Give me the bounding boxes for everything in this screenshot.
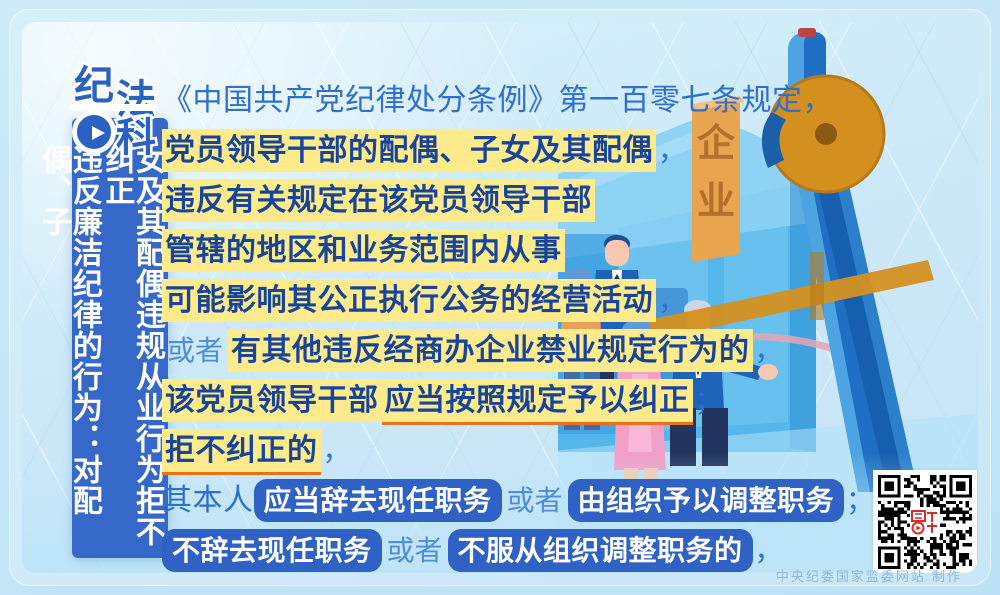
text-segment-pill: 不服从组织调整职务的: [448, 529, 753, 572]
poster-canvas: 企 业: [0, 0, 1000, 595]
text-segment-punct: ，: [753, 336, 783, 367]
text-line: 其本人应当辞去现任职务或者由组织予以调整职务；: [162, 478, 782, 524]
footer-credit: 中央纪委国家监委网站 制作: [776, 566, 962, 585]
text-segment-plain: 其本人: [162, 484, 254, 517]
text-segment-connector: 或者: [502, 486, 568, 517]
text-segment-highlight-underline: 应当按照规定予以纠正: [382, 379, 693, 425]
text-segment-highlight: 党员领导干部的配偶、子女及其配偶: [162, 129, 656, 172]
text-segment-punct: ；: [693, 386, 723, 417]
logo-char-fa: 法: [116, 80, 156, 120]
qr-center-logo: [910, 507, 940, 537]
text-line: 党员领导干部的配偶、子女及其配偶，: [162, 128, 782, 174]
text-line: 违反有关规定在该党员领导干部: [162, 178, 782, 224]
logo-divider-bar: [70, 104, 158, 111]
text-segment-punct: ，: [321, 436, 351, 467]
qr-code[interactable]: [873, 470, 977, 573]
regulation-text-block: 《中国共产党纪律处分条例》第一百零七条规定，党员领导干部的配偶、子女及其配偶，违…: [162, 78, 782, 573]
text-segment-punct: ；: [844, 486, 874, 517]
play-circle-icon: [72, 110, 116, 154]
text-line: 或者有其他违反经商办企业禁业规定行为的，: [162, 328, 782, 374]
text-segment-highlight: 可能影响其公正执行公务的经营活动: [162, 279, 656, 322]
poster-inner-frame: 企 业: [22, 22, 978, 573]
text-segment-connector: 或者: [382, 536, 448, 567]
text-line: 该党员领导干部应当按照规定予以纠正；: [162, 378, 782, 424]
text-segment-punct: ，: [656, 286, 686, 317]
text-segment-pill: 不辞去现任职务: [162, 529, 382, 572]
text-segment-connector: 或者: [162, 336, 228, 367]
text-line: 拒不纠正的，: [162, 428, 782, 474]
text-segment-punct: ，: [656, 136, 686, 167]
vertical-title-banner: 女及其配偶违规从业行为拒不纠正 违反廉洁纪律的行为：对配偶、子: [72, 118, 168, 558]
text-segment-highlight-underline: 拒不纠正的: [162, 429, 321, 475]
text-segment-highlight: 管辖的地区和业务范围内从事: [162, 229, 565, 272]
text-segment-highlight: 该党员领导干部: [162, 379, 382, 422]
text-line: 可能影响其公正执行公务的经营活动，: [162, 278, 782, 324]
text-segment-highlight: 有其他违反经商办企业禁业规定行为的: [228, 329, 753, 372]
text-segment-highlight: 违反有关规定在该党员领导干部: [162, 179, 595, 222]
vertical-title-col-right: 女及其配偶违规从业行为拒不纠正: [101, 144, 162, 548]
text-line: 管辖的地区和业务范围内从事: [162, 228, 782, 274]
text-line: 《中国共产党纪律处分条例》第一百零七条规定，: [162, 78, 782, 124]
text-segment-pill: 应当辞去现任职务: [254, 479, 502, 522]
text-segment-plain: 《中国共产党纪律处分条例》第一百零七条规定，: [162, 84, 833, 117]
brand-logo: 纪 法 科: [72, 66, 168, 162]
text-segment-punct: ，: [753, 536, 783, 567]
logo-char-ke: 科: [116, 118, 156, 158]
text-line: 不辞去现任职务或者不服从组织调整职务的，: [162, 528, 782, 573]
vertical-title-col-left: 违反廉洁纪律的行为：对配偶、子: [38, 144, 99, 548]
text-segment-pill: 由组织予以调整职务: [568, 479, 845, 522]
logo-char-ji: 纪: [74, 66, 114, 106]
